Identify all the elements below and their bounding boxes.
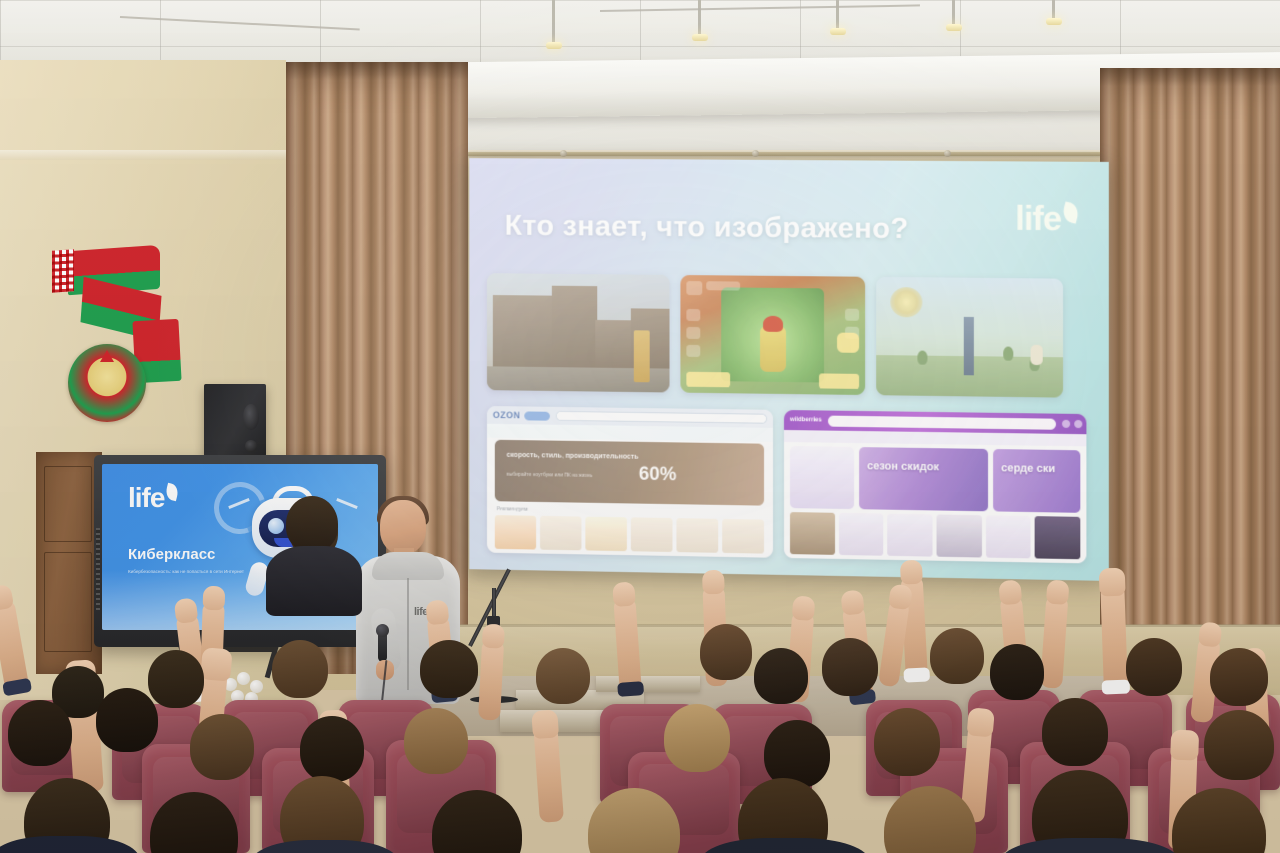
game-button xyxy=(819,373,859,389)
leaf-icon xyxy=(1061,201,1080,223)
sleeve-cuff xyxy=(1102,680,1130,695)
game-building xyxy=(552,286,597,372)
ozon-hero-banner: скорость, стиль, производительность выби… xyxy=(495,440,764,506)
adult-shoulders xyxy=(266,546,362,616)
palm-icon xyxy=(482,624,505,649)
slide-card-brawl-stars xyxy=(680,275,865,395)
display-brand-logo: life xyxy=(128,484,178,512)
ozon-navbar xyxy=(487,424,773,442)
presenter-head xyxy=(380,500,426,554)
ozon-logo: OZON xyxy=(493,410,521,420)
wildberries-banner-primary: сезон скидок xyxy=(859,447,988,511)
curtain-top-shadow xyxy=(1100,68,1280,86)
ozon-catalog-button xyxy=(524,411,550,420)
wildberries-search-input xyxy=(828,415,1056,429)
speaker-tweeter-icon xyxy=(245,440,257,452)
slide-card-wildberries: wildberries сезон скидок серде ски xyxy=(784,410,1086,563)
ozon-product-tile xyxy=(540,516,581,550)
wildberries-product-tile xyxy=(839,513,884,556)
presenter-hood xyxy=(372,552,444,580)
robot-eye xyxy=(268,518,284,534)
student-head xyxy=(8,700,72,766)
wildberries-banner-title-2: серде ски xyxy=(1001,462,1055,476)
palm-icon xyxy=(840,589,864,615)
game-character xyxy=(634,330,650,382)
light-hanger xyxy=(698,0,701,36)
ozon-product-grid xyxy=(495,515,764,553)
student-head xyxy=(1210,648,1268,706)
game-button xyxy=(837,333,859,353)
game-character xyxy=(760,325,786,371)
ozon-banner-subtitle: выбирайте ноутбуки или ПК на жизнь xyxy=(507,472,593,480)
game-ui-element xyxy=(706,281,740,290)
hanging-lamp-icon xyxy=(692,34,708,41)
light-hanger xyxy=(836,0,839,30)
wildberries-account-icon xyxy=(1062,420,1070,428)
display-brand-logo-text: life xyxy=(128,482,164,513)
game-tower xyxy=(964,317,974,375)
student-head xyxy=(148,650,204,708)
wildberries-banner-title: сезон скидок xyxy=(867,460,939,474)
game-ui-element xyxy=(686,327,700,339)
game-ui-element xyxy=(686,309,700,321)
student-head xyxy=(190,714,254,780)
leaf-icon xyxy=(165,483,181,501)
display-title: Киберкласс xyxy=(128,546,215,563)
stage-curtain-right xyxy=(1100,68,1280,678)
sleeve-cuff xyxy=(617,681,644,697)
game-tree xyxy=(1003,347,1013,361)
student-head xyxy=(700,624,752,680)
rail-bracket xyxy=(560,150,567,157)
palm-icon xyxy=(967,707,995,737)
belarus-flag-emblem xyxy=(46,248,196,428)
sun-icon xyxy=(890,287,922,317)
game-building xyxy=(595,320,633,372)
slide-card-open-world-game xyxy=(876,277,1063,398)
rail-bracket xyxy=(752,150,759,157)
projection-screen: Кто знает, что изображено? life xyxy=(469,158,1108,581)
raised-hand xyxy=(478,640,504,721)
wildberries-side-banner xyxy=(790,446,854,509)
microphone-head-icon xyxy=(376,624,389,637)
student-head xyxy=(822,638,878,696)
wildberries-product-tile xyxy=(937,514,982,557)
student-head xyxy=(96,688,158,752)
palm-icon xyxy=(203,586,226,611)
wildberries-product-tile xyxy=(888,514,933,557)
flag-ornament-pattern xyxy=(52,249,74,293)
wildberries-product-tile xyxy=(790,512,835,555)
speaker-cone-icon xyxy=(243,404,259,430)
flower-icon xyxy=(237,672,250,685)
raised-hand xyxy=(533,725,564,822)
game-button xyxy=(686,372,730,388)
ozon-section-label: Рекомендуем xyxy=(497,506,528,512)
game-ui-element xyxy=(686,281,702,295)
student-head xyxy=(754,648,808,704)
adult-head xyxy=(286,496,338,552)
game-ui-element xyxy=(845,309,859,321)
stage-step xyxy=(596,676,700,692)
ozon-product-tile xyxy=(722,519,764,554)
hanging-lamp-icon xyxy=(830,28,846,35)
cabinet-panel xyxy=(44,552,92,652)
student-shoulders xyxy=(0,836,140,853)
coat-of-arms-icon xyxy=(68,344,146,422)
student-head xyxy=(1126,638,1182,696)
slide-card-ozon: OZON скорость, стиль, производительность… xyxy=(487,406,773,558)
ozon-banner-title: скорость, стиль, производительность xyxy=(507,452,639,463)
rail-bracket xyxy=(944,150,951,157)
wildberries-cart-icon xyxy=(1074,420,1082,428)
student-head xyxy=(930,628,984,684)
ozon-discount-badge: 60% xyxy=(639,464,677,487)
palm-icon xyxy=(1198,621,1222,647)
student-head xyxy=(990,644,1044,700)
palm-icon xyxy=(1170,730,1199,761)
palm-icon xyxy=(200,647,233,681)
slide-title: Кто знает, что изображено? xyxy=(505,210,909,246)
ozon-product-tile xyxy=(676,518,718,553)
palm-icon xyxy=(612,582,636,607)
student-head xyxy=(300,716,364,782)
palm-icon xyxy=(900,560,923,585)
student-head xyxy=(420,640,478,698)
game-ui-element xyxy=(686,345,700,357)
wildberries-product-grid xyxy=(790,512,1080,559)
game-character xyxy=(1031,345,1043,365)
palm-icon xyxy=(792,595,816,620)
hanging-lamp-icon xyxy=(946,24,962,31)
game-tree xyxy=(917,351,927,365)
wooden-cabinet xyxy=(36,452,102,674)
game-building xyxy=(493,295,556,371)
ozon-product-tile xyxy=(585,517,627,552)
palm-icon xyxy=(1046,579,1070,604)
ozon-product-tile xyxy=(495,515,536,549)
slide-brand-logo-text: life xyxy=(1015,200,1061,239)
auditorium-scene: Кто знает, что изображено? life xyxy=(0,0,1280,853)
cabinet-panel xyxy=(44,466,92,542)
student-head xyxy=(536,648,590,704)
student-head xyxy=(1042,698,1108,766)
star-icon xyxy=(100,350,114,362)
palm-icon xyxy=(1099,568,1126,597)
raised-hand xyxy=(1100,584,1128,693)
light-hanger xyxy=(552,0,555,44)
palm-icon xyxy=(998,579,1022,605)
student-head xyxy=(874,708,940,776)
presenter-hoodie-zip xyxy=(407,578,409,690)
display-ports-icon xyxy=(96,528,100,610)
palm-icon xyxy=(531,709,559,739)
wildberries-product-tile xyxy=(1035,516,1080,559)
slide-brand-logo: life xyxy=(1015,202,1078,237)
hanging-lamp-icon xyxy=(1046,18,1062,25)
student-head xyxy=(272,640,328,698)
sleeve-cuff xyxy=(903,667,930,682)
student-head xyxy=(1204,710,1274,780)
ozon-product-tile xyxy=(631,517,673,552)
wildberries-logo: wildberries xyxy=(790,417,822,423)
wildberries-banner-secondary: серде ски xyxy=(993,449,1080,513)
slide-card-minecraft xyxy=(487,273,670,392)
light-hanger xyxy=(1052,0,1055,20)
light-hanger xyxy=(952,0,955,26)
palm-icon xyxy=(702,570,725,595)
student-head xyxy=(664,704,730,772)
curtain-top-shadow xyxy=(286,62,468,80)
hanging-lamp-icon xyxy=(546,42,562,49)
game-character-hair xyxy=(763,316,783,332)
palm-icon xyxy=(174,597,199,624)
wildberries-product-tile xyxy=(986,515,1031,558)
palm-icon xyxy=(425,599,449,625)
ozon-search-input xyxy=(556,411,767,424)
wildberries-banner-row: сезон скидок серде ски xyxy=(790,446,1080,513)
student-head xyxy=(404,708,468,774)
